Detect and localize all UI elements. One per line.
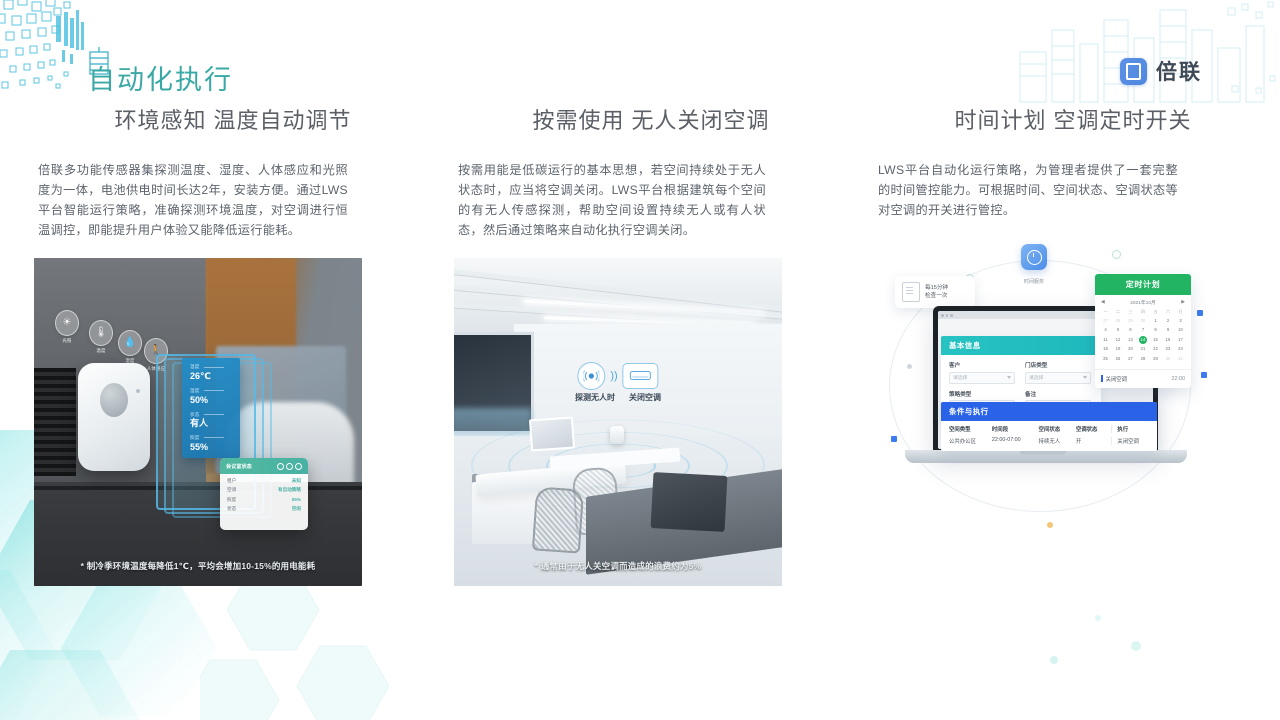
field-customer-label: 客户 (949, 361, 1015, 369)
status-card-row: 空调 有自动策略 (220, 484, 308, 493)
column-title-2: 按需使用 无人关闭空调 (451, 108, 851, 134)
calendar-weekday: 二 (1113, 308, 1124, 315)
check-interval-line1: 每15分钟 (925, 285, 948, 291)
calendar-weekday: 四 (1138, 308, 1149, 315)
status-row-label: 空调 (227, 487, 236, 493)
field-store-type: 门店类型 请选择 (1025, 361, 1091, 384)
photo-office: )) 探测无人时 关闭空调 * 通常由于无人关空调而造成的浪费约为5% (454, 258, 782, 586)
chevron-down-icon (1007, 376, 1011, 379)
figure-2: )) 探测无人时 关闭空调 * 通常由于无人关空调而造成的浪费约为5% (451, 258, 851, 586)
status-row-label: 租户 (227, 478, 236, 484)
decorative-square (891, 436, 897, 442)
motion-detect-label: 探测无人时 (575, 392, 615, 403)
panel-value-status: 有人 (190, 419, 232, 428)
calendar-day[interactable]: 27 (1100, 317, 1111, 325)
content-columns: 环境感知 温度自动调节 倍联多功能传感器集探测温度、湿度、人体感应和光照度为一体… (0, 108, 1280, 586)
panel-value-temp: 26℃ (190, 372, 232, 381)
decorative-square (1197, 310, 1203, 316)
schedule-plan-card: 定时计划 ◀ 2021年10月 ▶ 一二三四五六日272829301234567… (1095, 274, 1191, 388)
decorative-dot (1112, 250, 1121, 259)
panel-value-lux: 55% (190, 443, 232, 452)
field-customer: 客户 请选择 (949, 361, 1015, 384)
table-row: 公共办公区 22:00-07:00 持续无人 开 关闭空调 (949, 437, 1149, 445)
calendar-weekday: 一 (1100, 308, 1111, 315)
table-header-row: 空间类型 时间段 空间状态 空调状态 执行 (949, 425, 1149, 433)
col-header-time-range: 时间段 (992, 425, 1039, 433)
field-store-type-value: 请选择 (1029, 374, 1043, 381)
brand-name: 倍联 (1156, 56, 1202, 86)
calendar-day[interactable]: 28 (1113, 317, 1124, 325)
field-customer-value: 请选择 (953, 374, 967, 381)
column-body-1: 倍联多功能传感器集探测温度、湿度、人体感应和光照度为一体，电池供电时间长达2年，… (38, 160, 348, 240)
calendar-weekday: 六 (1163, 308, 1174, 315)
status-card-row: 租户 未知 (220, 474, 308, 483)
panel-label-status: 状态 (190, 413, 232, 418)
calendar-day[interactable]: 15 (1150, 336, 1161, 344)
panel-label-temp: 温度 (190, 365, 232, 370)
calendar-day[interactable]: 5 (1113, 326, 1124, 334)
calendar-weekday: 五 (1150, 308, 1161, 315)
calendar-grid[interactable]: 一二三四五六日272829301234567891011121314151617… (1095, 308, 1191, 367)
status-card-header: 会议室状态 (220, 458, 308, 474)
calendar-day[interactable]: 7 (1138, 326, 1149, 334)
status-card-dots (275, 458, 302, 475)
photo1-data-panel: 温度 26℃ 湿度 50% 状态 有人 照度 55% (182, 358, 240, 458)
calendar-day[interactable]: 23 (1163, 345, 1174, 353)
calendar-day[interactable]: 3 (1175, 317, 1186, 325)
calendar-nav: ◀ 2021年10月 ▶ (1095, 295, 1191, 308)
decorative-dot (1047, 522, 1053, 528)
ac-off-label: 关闭空调 (629, 392, 661, 403)
calendar-day[interactable]: 27 (1125, 355, 1136, 363)
panel-value-humidity: 50% (190, 396, 232, 405)
status-card-row: 照度 55% (220, 493, 308, 502)
calendar-day[interactable]: 6 (1125, 326, 1136, 334)
photo1-vent (34, 368, 76, 476)
schedule-entry-label: 关闭空调 (1106, 375, 1128, 383)
calendar-day[interactable]: 19 (1113, 345, 1124, 353)
status-card-title: 会议室状态 (226, 463, 252, 470)
column-title-1: 环境感知 温度自动调节 (33, 108, 433, 134)
calendar-day[interactable]: 22 (1150, 345, 1161, 353)
field-remark-label: 备注 (1025, 390, 1091, 398)
status-row-value: 空闲 (292, 506, 301, 512)
calendar-day[interactable]: 14 (1139, 336, 1147, 344)
calendar-day[interactable]: 4 (1100, 326, 1111, 334)
calendar-day[interactable]: 29 (1150, 355, 1161, 363)
calendar-day[interactable]: 11 (1100, 336, 1111, 344)
photo2-sensor-node (610, 426, 624, 444)
field-customer-select[interactable]: 请选择 (949, 372, 1015, 384)
photo2-badges: )) (577, 362, 658, 390)
column-body-3: LWS平台自动化运行策略，为管理者提供了一套完整的时间管控能力。可根据时间、空间… (878, 160, 1178, 220)
calendar-weekday: 日 (1175, 308, 1186, 315)
check-interval-chip: 每15分钟 检查一次 (895, 276, 975, 308)
check-interval-text: 每15分钟 检查一次 (925, 284, 948, 300)
basic-info-title: 基本信息 (941, 336, 1101, 355)
cell-space-type: 公共办公区 (949, 437, 992, 445)
calendar-day[interactable]: 21 (1138, 345, 1149, 353)
col-header-action: 执行 (1111, 425, 1149, 433)
photo2-monitor-back (651, 472, 728, 532)
slide-root: 自动化执行 倍联 环境感知 温度自动调节 倍联多功能传感器集探测温度、湿度、人体… (0, 0, 1280, 720)
status-row-value: 未知 (292, 478, 301, 484)
calendar-day[interactable]: 1 (1150, 317, 1161, 325)
condition-exec-table: 空间类型 时间段 空间状态 空调状态 执行 公共办公区 22:00-07:00 … (941, 421, 1157, 451)
calendar-prev-button[interactable]: ◀ (1101, 300, 1105, 305)
calendar-day[interactable]: 26 (1113, 355, 1124, 363)
schedule-entry-time: 22:00 (1172, 376, 1186, 382)
column-title-3: 时间计划 空调定时开关 (873, 108, 1273, 134)
cell-action: 关闭空调 (1111, 437, 1149, 445)
column-on-demand: 按需使用 无人关闭空调 按需用能是低碳运行的基本思想，若空间持续处于无人状态时，… (451, 108, 851, 586)
status-row-value: 55% (292, 497, 301, 503)
check-interval-line2: 检查一次 (925, 293, 947, 299)
figure-1: ☀光照 🌡温度 💧湿度 🚶人体感应 (33, 258, 433, 586)
calendar-day[interactable]: 13 (1125, 336, 1136, 344)
calendar-day[interactable]: 20 (1125, 345, 1136, 353)
column-body-2: 按需用能是低碳运行的基本思想，若空间持续处于无人状态时，应当将空调关闭。LWS平… (458, 160, 766, 240)
photo2-monitor (529, 417, 575, 452)
air-conditioner-icon (623, 363, 659, 389)
brand-logo-icon (1120, 58, 1147, 85)
dot-decoration-bottomright (1040, 600, 1160, 680)
column-time-plan: 时间计划 空调定时开关 LWS平台自动化运行策略，为管理者提供了一套完整的时间管… (873, 108, 1273, 586)
laptop-mockup: 时间服务 每15分钟 检查一次 (879, 232, 1207, 532)
document-check-icon (902, 282, 920, 302)
city-skyline-decoration-topright (980, 0, 1280, 105)
laptop-notch (1020, 451, 1066, 455)
motion-detect-icon (577, 362, 605, 390)
figure-caption-1: * 制冷季环境温度每降低1℃，平均会增加10-15%的用电能耗 (34, 560, 362, 572)
field-store-type-select[interactable]: 请选择 (1025, 372, 1091, 384)
cell-ac-state: 开 (1076, 437, 1111, 445)
schedule-entry-row[interactable]: 关闭空调 22:00 (1095, 369, 1191, 388)
calendar-month-label: 2021年10月 (1130, 299, 1156, 306)
calendar-day[interactable]: 2 (1163, 317, 1174, 325)
status-row-label: 照度 (227, 497, 236, 503)
calendar-weekday: 三 (1125, 308, 1136, 315)
field-strategy-type-label: 策略类型 (949, 390, 1015, 398)
photo1-sensor-device (78, 363, 150, 471)
pixel-dissolve-decoration-topleft (0, 0, 124, 112)
figure-caption-2: * 通常由于无人关空调而造成的浪费约为5% (454, 560, 782, 572)
entry-marker-icon (1101, 375, 1103, 382)
status-row-value: 有自动策略 (278, 487, 301, 493)
calendar-day[interactable]: 12 (1113, 336, 1124, 344)
schedule-plan-title: 定时计划 (1095, 274, 1191, 295)
clock-icon (1021, 244, 1047, 270)
col-header-ac-state: 空调状态 (1076, 425, 1111, 433)
temperature-icon-label: 温度 (90, 348, 112, 354)
calendar-day[interactable]: 10 (1175, 326, 1186, 334)
brand-logo: 倍联 (1120, 56, 1202, 86)
column-env-sense: 环境感知 温度自动调节 倍联多功能传感器集探测温度、湿度、人体感应和光照度为一体… (33, 108, 433, 586)
calendar-day[interactable]: 17 (1175, 336, 1186, 344)
time-service-chip: 时间服务 (1019, 244, 1049, 288)
panel-label-humidity: 湿度 (190, 389, 232, 394)
photo2-badge-labels: 探测无人时 关闭空调 (575, 392, 661, 403)
col-header-space-state: 空间状态 (1039, 425, 1076, 433)
time-service-label: 时间服务 (1024, 279, 1044, 285)
panel-label-lux: 照度 (190, 436, 232, 441)
status-card-row: 状态 空闲 (220, 503, 308, 512)
condition-exec-title: 条件与执行 (941, 402, 1157, 421)
photo-sensor-wall: ☀光照 🌡温度 💧湿度 🚶人体感应 (34, 258, 362, 586)
calendar-day[interactable]: 9 (1163, 326, 1174, 334)
signal-waves-icon: )) (610, 371, 617, 382)
calendar-day[interactable]: 8 (1150, 326, 1161, 334)
decorative-square (1201, 372, 1207, 378)
calendar-day[interactable]: 31 (1175, 355, 1186, 363)
page-title: 自动化执行 (88, 67, 233, 94)
cell-time-range: 22:00-07:00 (992, 437, 1039, 445)
status-row-label: 状态 (227, 506, 236, 512)
calendar-day[interactable]: 28 (1138, 355, 1149, 363)
calendar-day[interactable]: 24 (1175, 345, 1186, 353)
field-store-type-label: 门店类型 (1025, 361, 1091, 369)
illuminance-icon-label: 光照 (56, 338, 78, 344)
calendar-day[interactable]: 30 (1138, 317, 1149, 325)
photo2-chair (532, 487, 584, 554)
calendar-day[interactable]: 30 (1163, 355, 1174, 363)
cell-space-state: 持续无人 (1039, 437, 1076, 445)
condition-exec-card: 条件与执行 空间类型 时间段 空间状态 空调状态 执行 公共办公区 (941, 402, 1157, 451)
calendar-next-button[interactable]: ▶ (1181, 300, 1185, 305)
calendar-day[interactable]: 29 (1125, 317, 1136, 325)
calendar-day[interactable]: 16 (1163, 336, 1174, 344)
calendar-day[interactable]: 18 (1100, 345, 1111, 353)
col-header-space-type: 空间类型 (949, 425, 992, 433)
calendar-day[interactable]: 25 (1100, 355, 1111, 363)
chevron-down-icon (1083, 376, 1087, 379)
figure-3: 时间服务 每15分钟 检查一次 (879, 232, 1207, 532)
photo1-status-card: 会议室状态 租户 未知 空调 有自动策略 照度 (220, 458, 308, 530)
